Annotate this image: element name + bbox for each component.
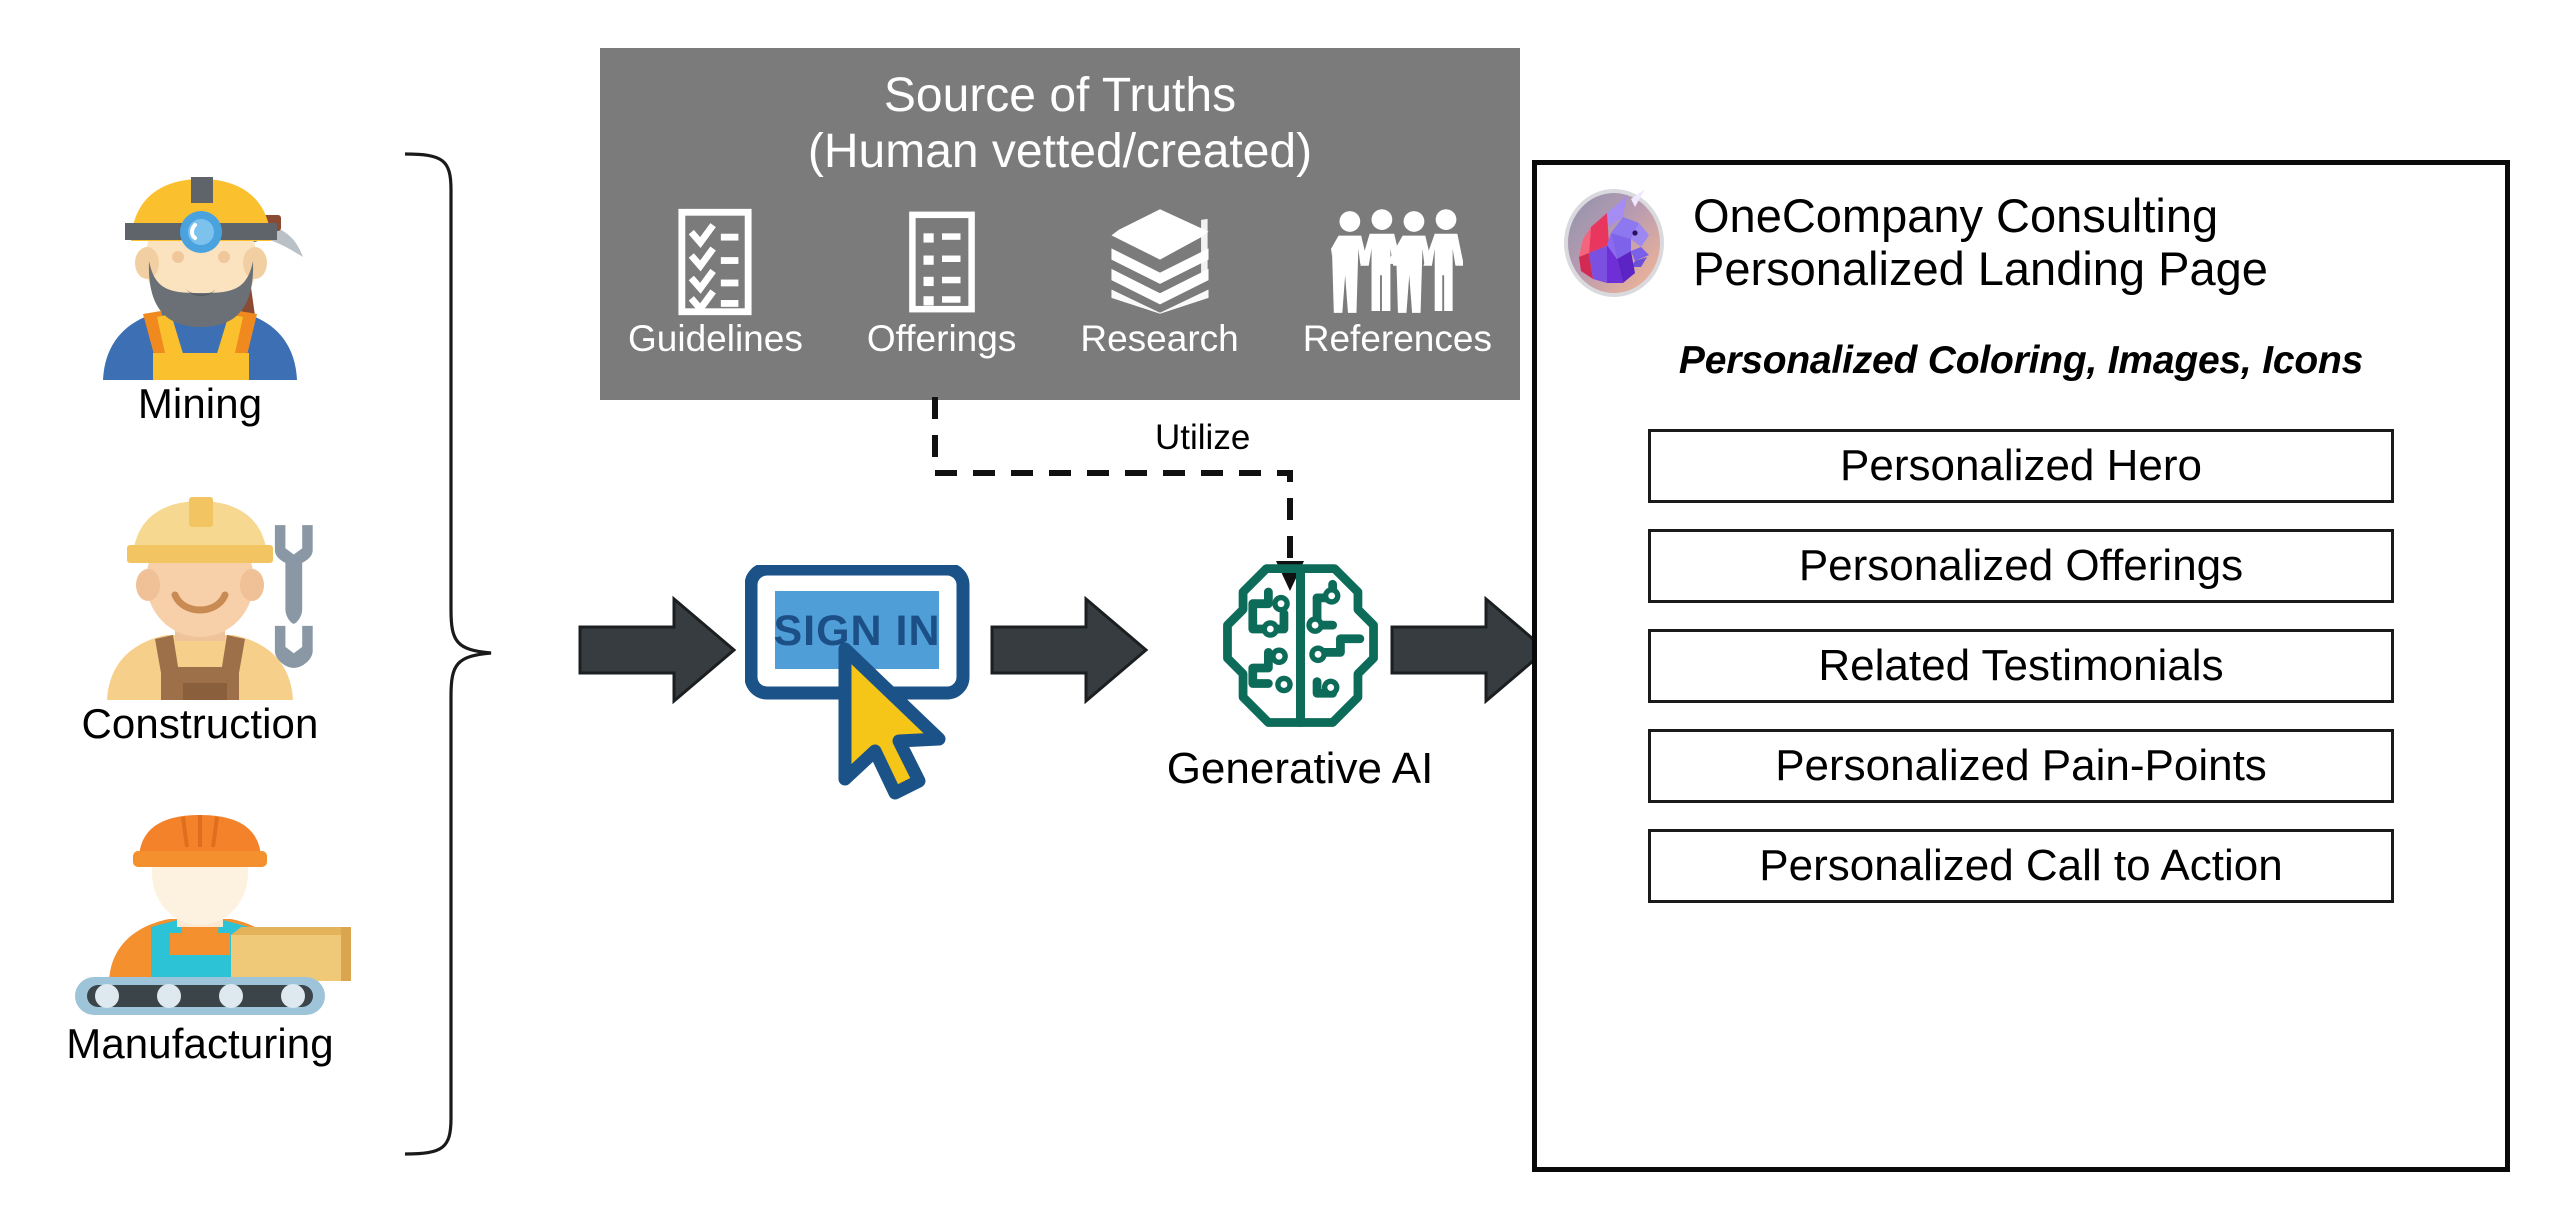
industry-label: Manufacturing — [35, 1022, 365, 1066]
source-of-truths-title: Source of Truths (Human vetted/created) — [600, 48, 1520, 179]
industry-label: Mining — [35, 382, 365, 426]
industry-label: Construction — [35, 702, 365, 746]
arrow-signin-to-genai — [990, 595, 1150, 705]
landing-page-sections: Personalized Hero Personalized Offerings… — [1537, 429, 2505, 903]
sign-in-button[interactable]: SIGN IN — [745, 565, 995, 815]
list-icon — [867, 201, 1016, 316]
diagram-canvas: Mining — [0, 0, 2560, 1211]
utilize-label: Utilize — [1155, 418, 1250, 458]
sot-item-guidelines: Guidelines — [628, 201, 803, 357]
checklist-icon — [628, 201, 803, 316]
landing-page-header: OneCompany Consulting Personalized Landi… — [1537, 165, 2505, 299]
section-personalized-call-to-action[interactable]: Personalized Call to Action — [1648, 829, 2394, 903]
sot-item-references: References — [1303, 201, 1492, 357]
people-group-icon — [1303, 201, 1492, 316]
circuit-brain-icon — [1208, 555, 1393, 740]
arrow-industries-to-signin — [578, 595, 738, 705]
sot-item-label: Guidelines — [628, 320, 803, 357]
arrow-genai-to-landing-page — [1390, 595, 1550, 705]
section-related-testimonials[interactable]: Related Testimonials — [1648, 629, 2394, 703]
generative-ai-label: Generative AI — [1155, 744, 1445, 794]
unicorn-logo — [1561, 187, 1667, 299]
sot-item-label: Research — [1080, 320, 1238, 357]
section-personalized-hero[interactable]: Personalized Hero — [1648, 429, 2394, 503]
svg-text:SIGN IN: SIGN IN — [773, 607, 940, 655]
sot-item-research: Research — [1080, 201, 1238, 357]
section-personalized-offerings[interactable]: Personalized Offerings — [1648, 529, 2394, 603]
source-of-truths-box: Source of Truths (Human vetted/created) — [600, 48, 1520, 400]
industry-item-mining: Mining — [35, 175, 365, 426]
industry-item-manufacturing: Manufacturing — [35, 815, 365, 1066]
industry-item-construction: Construction — [35, 495, 365, 746]
sot-item-label: Offerings — [867, 320, 1016, 357]
construction-worker-icon — [35, 495, 365, 700]
curly-brace-icon — [395, 150, 505, 1160]
factory-worker-icon — [35, 815, 365, 1020]
stacked-books-icon — [1080, 201, 1238, 316]
landing-page-title: OneCompany Consulting Personalized Landi… — [1693, 190, 2268, 295]
section-personalized-pain-points[interactable]: Personalized Pain-Points — [1648, 729, 2394, 803]
landing-page-panel: OneCompany Consulting Personalized Landi… — [1532, 160, 2510, 1172]
sot-item-offerings: Offerings — [867, 201, 1016, 357]
miner-worker-icon — [35, 175, 365, 380]
sot-item-label: References — [1303, 320, 1492, 357]
landing-page-subtitle: Personalized Coloring, Images, Icons — [1537, 339, 2505, 383]
source-of-truths-icon-row: Guidelines Offerings — [600, 179, 1520, 357]
